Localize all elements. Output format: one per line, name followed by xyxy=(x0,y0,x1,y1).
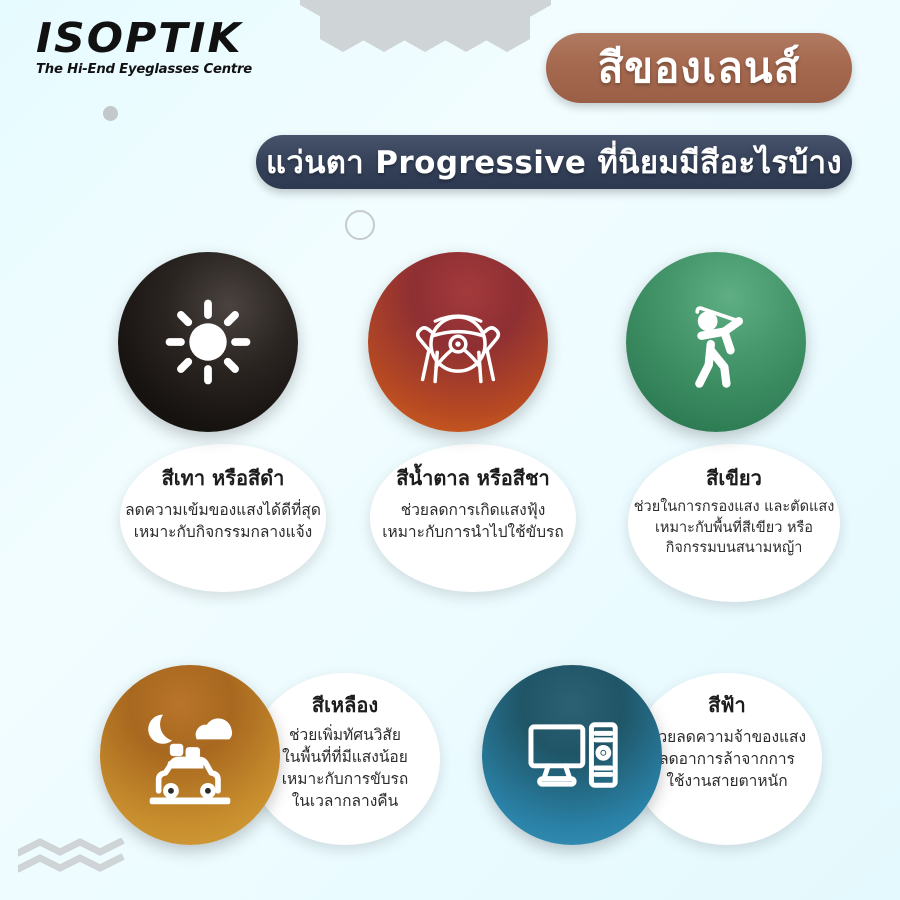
brand-logo: ISOPTIK The Hi-End Eyeglasses Centre xyxy=(36,18,296,77)
cloud xyxy=(196,718,232,739)
card-desc-line: ลดอาการล้าจากการ xyxy=(648,748,806,770)
card-desc-line: ช่วยลดการเกิดแสงฟุ้ง xyxy=(382,499,564,521)
card-title: สีเหลือง xyxy=(312,693,378,718)
card-desc-line: ในพื้นที่ที่มีแสงน้อย xyxy=(282,746,409,768)
card-desc-line: ในเวลากลางคืน xyxy=(282,790,409,812)
card-desc-line: ใช้งานสายตาหนัก xyxy=(648,770,806,792)
card-icon-circle xyxy=(118,252,298,432)
card-icon-circle xyxy=(626,252,806,432)
lens-color-badge: สีของเลนส์ xyxy=(546,33,852,103)
card-icon-circle xyxy=(368,252,548,432)
question-banner: แว่นตา Progressive ที่นิยมมีสีอะไรบ้าง xyxy=(256,135,852,189)
card-title: สีเขียว xyxy=(706,466,762,491)
card-icon-circle xyxy=(100,665,280,845)
wave-decoration xyxy=(18,838,138,878)
desktop-computer-icon xyxy=(518,701,626,809)
decorative-ring xyxy=(345,210,375,240)
hexagon-pattern-decoration xyxy=(300,0,550,96)
card-desc-line: กิจกรรมบนสนามหญ้า xyxy=(634,538,835,559)
card-title: สีน้ำตาล หรือสีชา xyxy=(396,466,550,491)
golfer-icon xyxy=(664,290,768,394)
card-desc-line: เหมาะกับพื้นที่สีเขียว หรือ xyxy=(634,518,835,539)
card-desc-line: เหมาะกับการนำไปใช้ขับรถ xyxy=(382,521,564,543)
card-desc-line: ช่วยเพิ่มทัศนวิสัย xyxy=(282,724,409,746)
card-desc-line: เหมาะกับการขับรถ xyxy=(282,768,409,790)
card-text-circle: สีเขียว ช่วยในการกรองแสง และตัดแสง เหมาะ… xyxy=(628,444,840,602)
brand-tagline: The Hi-End Eyeglasses Centre xyxy=(36,62,296,77)
decorative-dot xyxy=(103,106,118,121)
sun-icon xyxy=(156,290,260,394)
card-icon-circle xyxy=(482,665,662,845)
card-desc-line: ช่วยลดความจ้าของแสง xyxy=(648,726,806,748)
card-desc-line: เหมาะกับกิจกรรมกลางแจ้ง xyxy=(125,521,321,543)
steering-wheel-icon xyxy=(406,290,510,394)
card-text-circle: สีน้ำตาล หรือสีชา ช่วยลดการเกิดแสงฟุ้ง เ… xyxy=(370,444,576,592)
night-driving-icon xyxy=(134,699,246,811)
infographic-page: ISOPTIK The Hi-End Eyeglasses Centre สีข… xyxy=(0,0,900,900)
card-title: สีเทา หรือสีดำ xyxy=(162,466,285,491)
card-text-circle: สีเทา หรือสีดำ ลดความเข้มของแสงได้ดีที่ส… xyxy=(120,444,326,592)
card-desc-line: ช่วยในการกรองแสง และตัดแสง xyxy=(634,497,835,518)
crescent-moon xyxy=(148,715,172,744)
card-title: สีฟ้า xyxy=(708,693,746,718)
brand-name: ISOPTIK xyxy=(36,18,306,59)
card-desc-line: ลดความเข้มของแสงได้ดีที่สุด xyxy=(125,499,321,521)
